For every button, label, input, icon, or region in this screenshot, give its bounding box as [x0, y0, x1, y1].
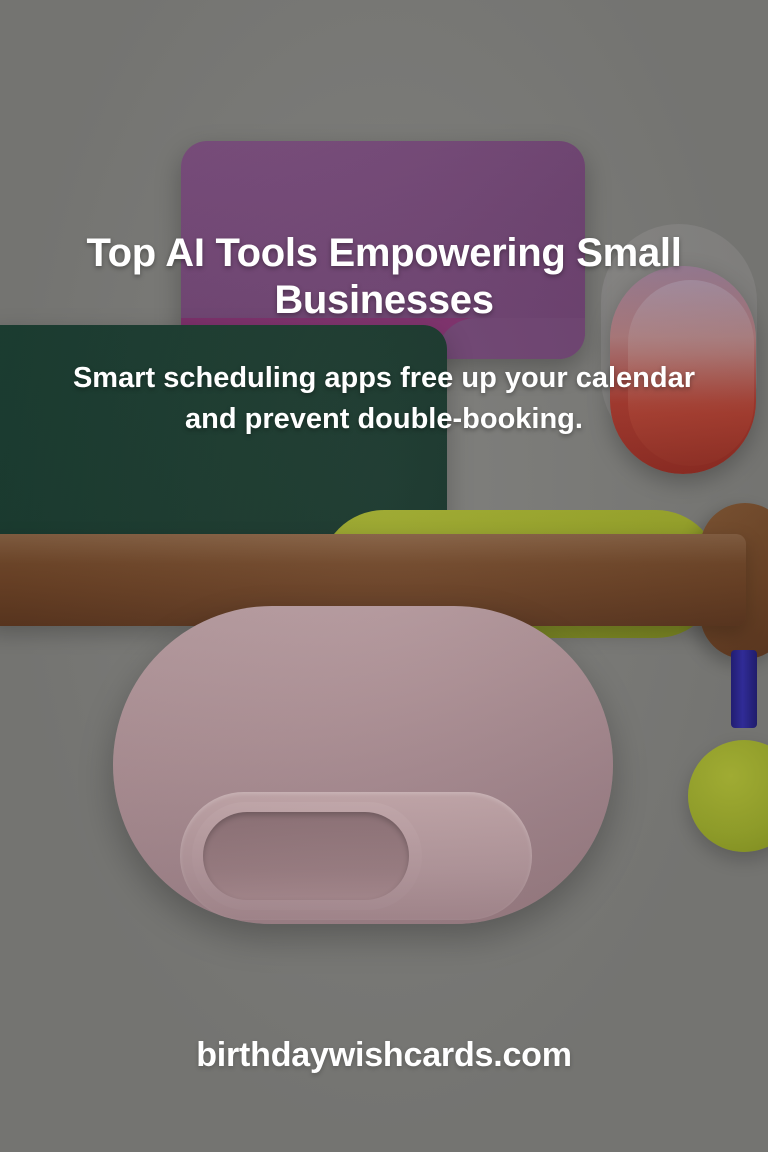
text-content: Top AI Tools Empowering Small Businesses… [0, 0, 768, 1152]
footer-domain-label: birthdaywishcards.com [0, 1036, 768, 1075]
headline-title: Top AI Tools Empowering Small Businesses [12, 230, 756, 324]
pin-graphic: Top AI Tools Empowering Small Businesses… [0, 0, 768, 1152]
subheadline-text: Smart scheduling apps free up your calen… [70, 358, 698, 440]
